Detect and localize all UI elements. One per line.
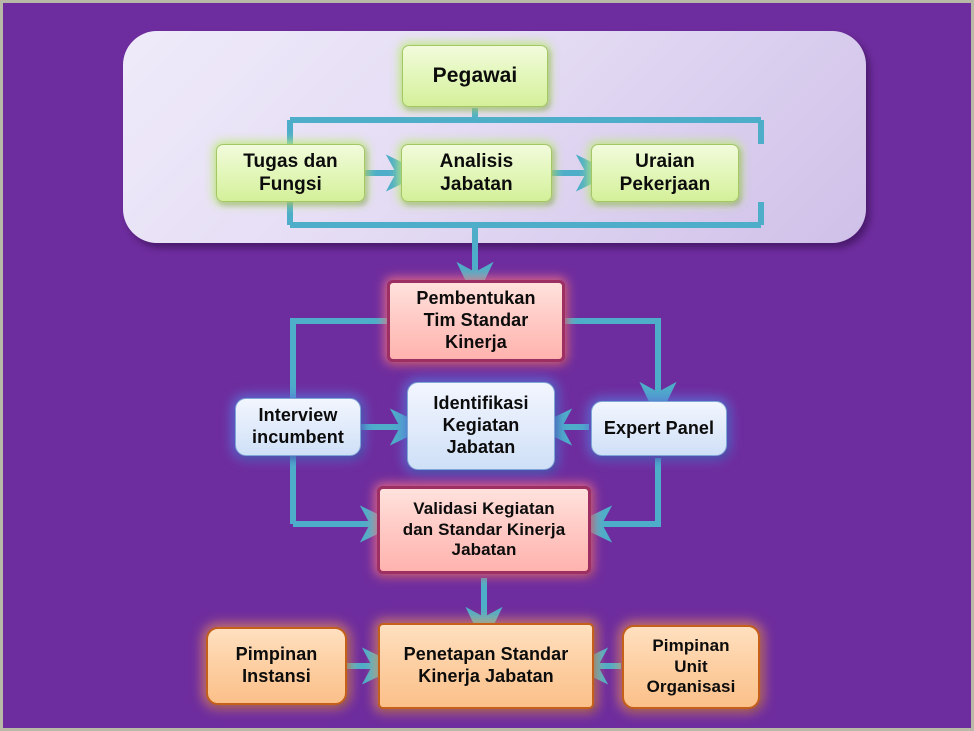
node-validasi-label: Validasi Kegiatandan Standar KinerjaJaba… bbox=[397, 499, 572, 561]
node-penetapan-standar-kinerja-jabatan[interactable]: Penetapan StandarKinerja Jabatan bbox=[378, 623, 594, 709]
node-expert-panel-label: Expert Panel bbox=[598, 418, 720, 440]
node-pembentukan-tim-standar-kinerja[interactable]: PembentukanTim StandarKinerja bbox=[387, 280, 565, 362]
node-analisis-jabatan-label: AnalisisJabatan bbox=[434, 150, 520, 196]
node-identifikasi-label: IdentifikasiKegiatanJabatan bbox=[427, 393, 534, 459]
node-expert-panel[interactable]: Expert Panel bbox=[591, 401, 727, 456]
node-pimpinan-instansi-label: PimpinanInstansi bbox=[230, 644, 324, 688]
node-interview-incumbent-label: Interviewincumbent bbox=[246, 405, 350, 449]
node-pimpinan-unit-label: PimpinanUnitOrganisasi bbox=[641, 636, 742, 698]
node-uraian-pekerjaan[interactable]: UraianPekerjaan bbox=[591, 144, 739, 202]
node-interview-incumbent[interactable]: Interviewincumbent bbox=[235, 398, 361, 456]
node-uraian-pekerjaan-label: UraianPekerjaan bbox=[614, 150, 717, 196]
node-pegawai[interactable]: Pegawai bbox=[402, 45, 548, 107]
node-pembentukan-label: PembentukanTim StandarKinerja bbox=[410, 288, 541, 354]
node-tugas-dan-fungsi[interactable]: Tugas danFungsi bbox=[216, 144, 365, 202]
edge-pembentukan-right bbox=[563, 321, 658, 395]
node-penetapan-label: Penetapan StandarKinerja Jabatan bbox=[398, 644, 575, 688]
node-pegawai-label: Pegawai bbox=[427, 63, 524, 89]
node-validasi-kegiatan-standar-kinerja[interactable]: Validasi Kegiatandan Standar KinerjaJaba… bbox=[377, 486, 591, 574]
diagram-canvas: Pegawai Tugas danFungsi AnalisisJabatan … bbox=[0, 0, 974, 731]
node-tugas-dan-fungsi-label: Tugas danFungsi bbox=[237, 150, 344, 196]
node-pimpinan-instansi[interactable]: PimpinanInstansi bbox=[206, 627, 347, 705]
node-pimpinan-unit-organisasi[interactable]: PimpinanUnitOrganisasi bbox=[622, 625, 760, 709]
node-identifikasi-kegiatan-jabatan[interactable]: IdentifikasiKegiatanJabatan bbox=[407, 382, 555, 470]
edge-expert-validasi bbox=[599, 458, 658, 524]
node-analisis-jabatan[interactable]: AnalisisJabatan bbox=[401, 144, 552, 202]
